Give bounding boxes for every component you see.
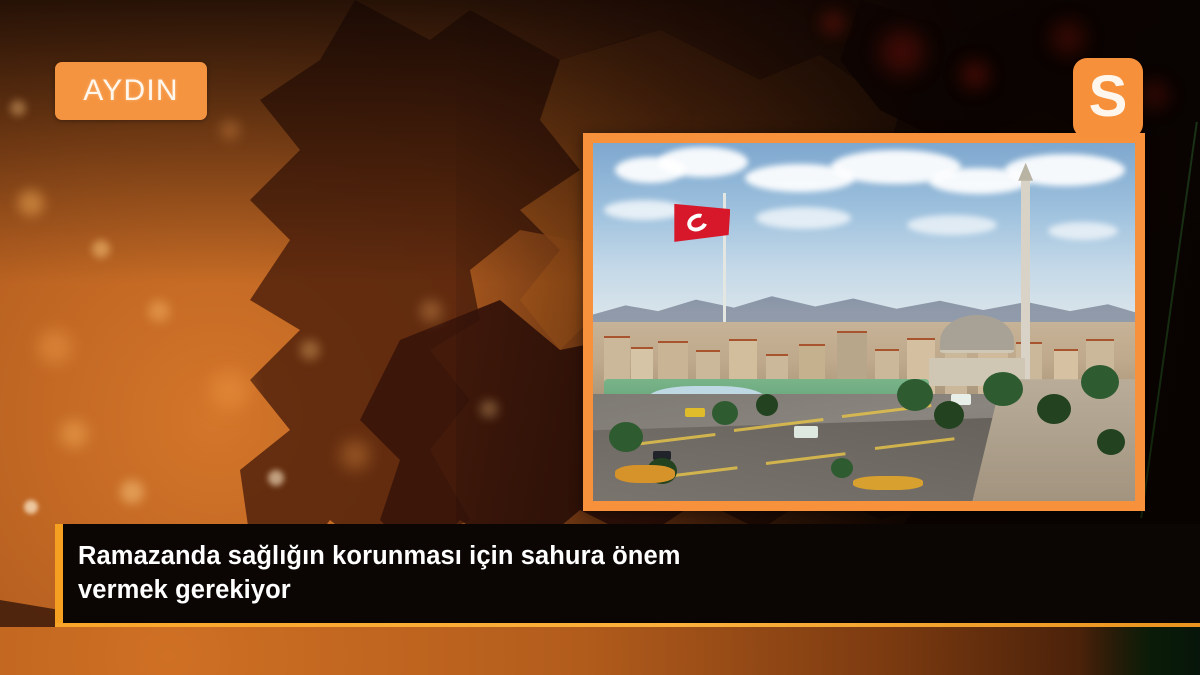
page-title: Ramazanda sağlığın korunması için sahura… [62,540,722,608]
headline-accent-bar [55,524,63,623]
article-photo [593,143,1135,501]
site-logo-letter: S [1089,68,1128,126]
orange-divider-rule [55,623,1200,627]
article-photo-frame[interactable] [583,133,1145,511]
bottom-background-strip [0,627,1200,675]
city-badge-label: AYDIN [83,74,178,108]
city-badge[interactable]: AYDIN [55,62,207,120]
news-card: AYDIN [0,0,1200,675]
photo-flowerbed-2 [853,476,923,490]
photo-flowerbed [615,465,675,483]
bottom-green-shade [1080,627,1200,675]
site-logo[interactable]: S [1073,58,1143,138]
headline-bar: Ramazanda sağlığın korunması için sahura… [62,524,1200,623]
